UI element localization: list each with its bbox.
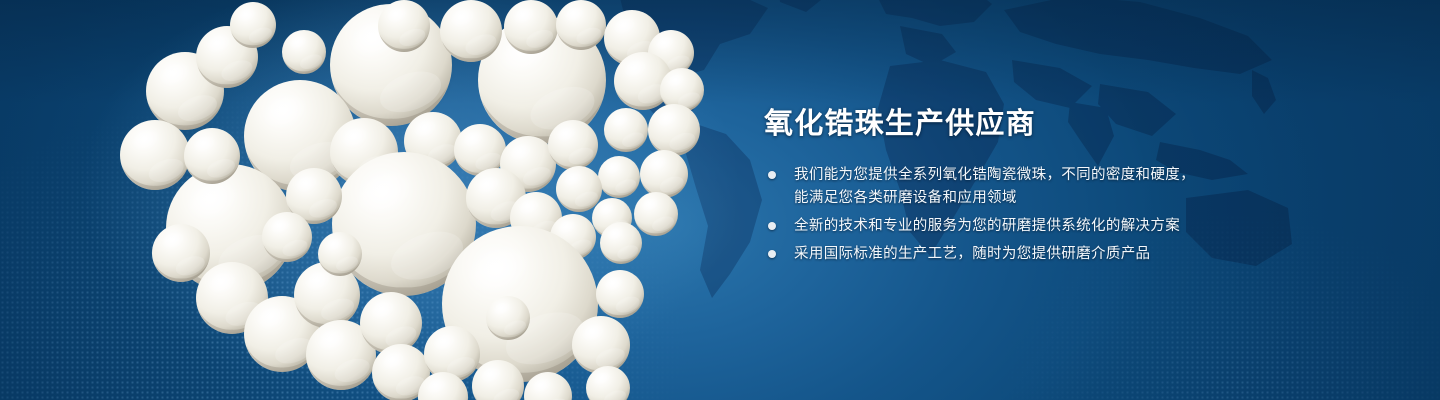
list-item: 全新的技术和专业的服务为您的研磨提供系统化的解决方案 [764, 215, 1404, 237]
feature-list: 我们能为您提供全系列氧化锆陶瓷微珠，不同的密度和硬度， 能满足您各类研磨设备和应… [764, 164, 1404, 265]
list-item: 我们能为您提供全系列氧化锆陶瓷微珠，不同的密度和硬度， 能满足您各类研磨设备和应… [764, 164, 1404, 209]
hero-banner: 氧化锆珠生产供应商 我们能为您提供全系列氧化锆陶瓷微珠，不同的密度和硬度， 能满… [0, 0, 1440, 400]
zirconia-beads-photo [0, 0, 760, 400]
bullet-dot-icon [768, 250, 776, 258]
bullet-dot-icon [768, 171, 776, 179]
page-title: 氧化锆珠生产供应商 [764, 104, 1404, 144]
list-item-line: 能满足您各类研磨设备和应用领域 [794, 187, 1404, 209]
bullet-dot-icon [768, 222, 776, 230]
banner-copy: 氧化锆珠生产供应商 我们能为您提供全系列氧化锆陶瓷微珠，不同的密度和硬度， 能满… [764, 104, 1404, 265]
list-item-line: 全新的技术和专业的服务为您的研磨提供系统化的解决方案 [794, 215, 1404, 237]
list-item-line: 我们能为您提供全系列氧化锆陶瓷微珠，不同的密度和硬度， [794, 164, 1404, 186]
list-item-line: 采用国际标准的生产工艺，随时为您提供研磨介质产品 [794, 243, 1404, 265]
list-item: 采用国际标准的生产工艺，随时为您提供研磨介质产品 [764, 243, 1404, 265]
